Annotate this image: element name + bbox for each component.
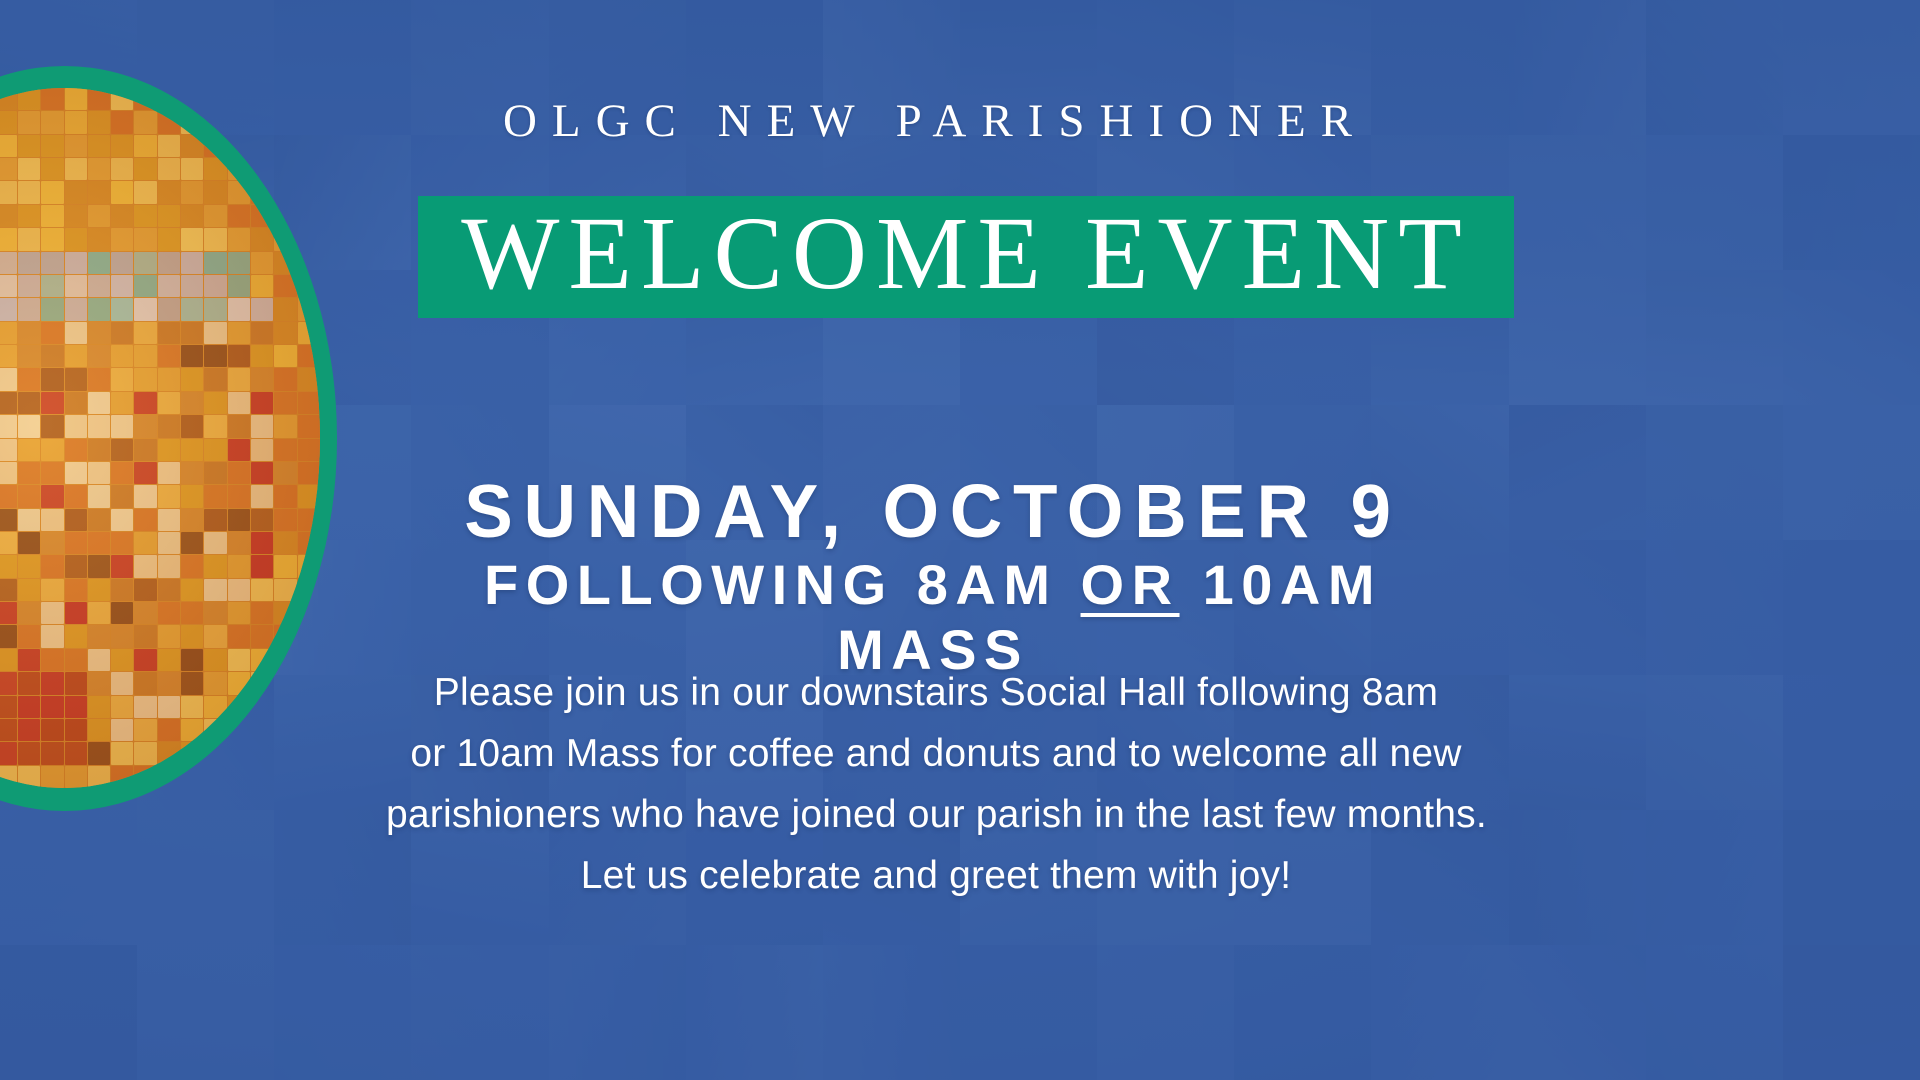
banner-title: WELCOME EVENT <box>418 196 1514 318</box>
event-flyer: OLGC NEW PARISHIONER WELCOME EVENT SUNDA… <box>0 0 1920 1080</box>
welcome-event-banner: WELCOME EVENT <box>418 196 1514 318</box>
event-time-prefix: FOLLOWING 8AM <box>484 553 1081 616</box>
madonna-and-child-mosaic-icon <box>0 66 352 826</box>
description-line: or 10am Mass for coffee and donuts and t… <box>386 723 1486 784</box>
description-line: Let us celebrate and greet them with joy… <box>386 845 1486 906</box>
event-date: SUNDAY, OCTOBER 9 <box>395 468 1472 554</box>
description-line: parishioners who have joined our parish … <box>386 784 1486 845</box>
event-time-or: OR <box>1081 553 1180 616</box>
page-kicker: OLGC NEW PARISHIONER <box>400 94 1470 148</box>
event-description: Please join us in our downstairs Social … <box>386 662 1486 906</box>
medallion-mosaic-image <box>0 88 320 788</box>
mosaic-shading <box>0 88 320 788</box>
flyer-text-content: OLGC NEW PARISHIONER WELCOME EVENT SUNDA… <box>378 0 1488 1080</box>
description-line: Please join us in our downstairs Social … <box>386 662 1486 723</box>
